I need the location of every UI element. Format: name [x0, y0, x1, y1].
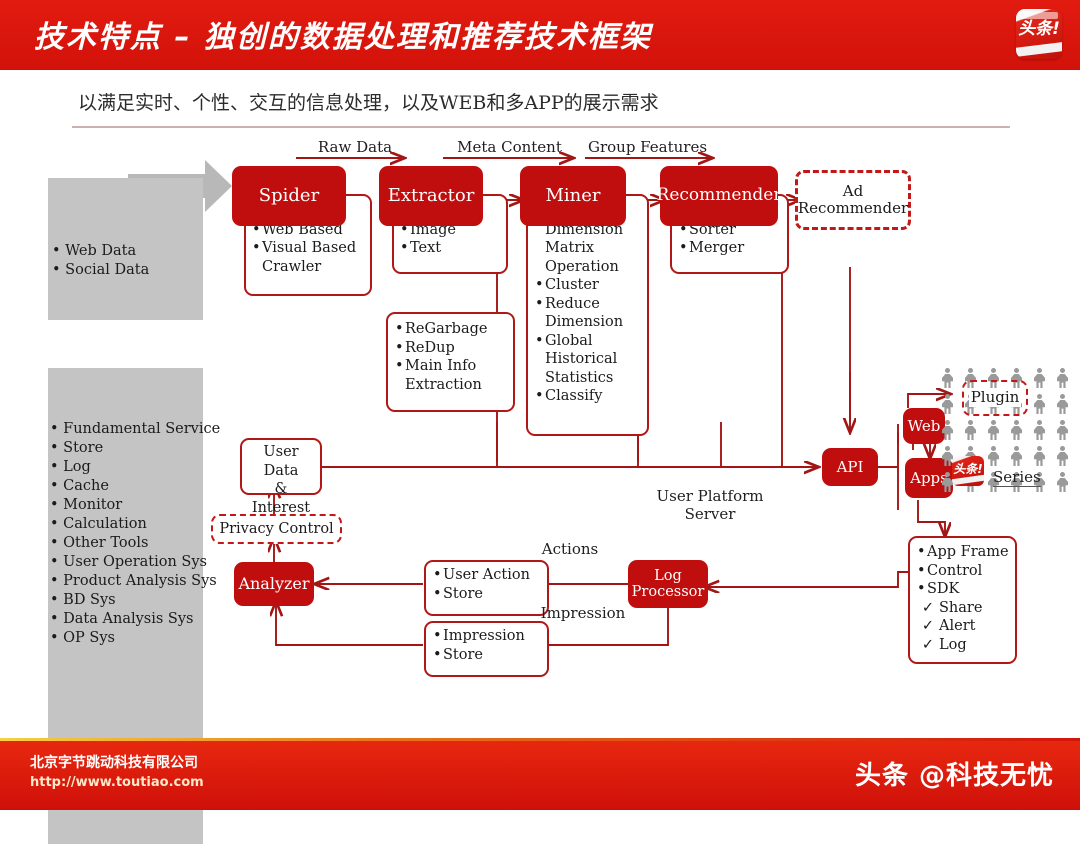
- series-app-icon: 头条!: [952, 456, 984, 486]
- spider-node[interactable]: Spider: [232, 166, 346, 226]
- web-label: Web: [908, 418, 941, 435]
- app-frame-node[interactable]: •App Frame •Control •SDK ✓Share ✓Alert ✓…: [908, 536, 1017, 664]
- miner-node[interactable]: Miner: [520, 166, 626, 226]
- list-item: • Other Tools: [50, 534, 220, 553]
- person-icon: [964, 420, 977, 440]
- flow-label-group-features: Group Features: [585, 138, 710, 156]
- flow-label-meta-content: Meta Content: [452, 138, 567, 156]
- web-node[interactable]: Web: [903, 408, 945, 444]
- person-icon: [941, 394, 954, 414]
- page-title: 技术特点 – 独创的数据处理和推荐技术框架: [34, 12, 652, 56]
- ad-recommender-line2: Recommender: [798, 200, 908, 217]
- toutiao-logo-icon: 头条!: [1016, 9, 1062, 59]
- list-item: Share: [939, 600, 982, 616]
- architecture-diagram: • Web Data • Social Data • Fundamental S…: [0, 132, 1080, 732]
- list-item: Main Info: [405, 358, 476, 374]
- extractor-detail-box-2: •ReGarbage •ReDup •Main Info Extraction: [386, 312, 515, 412]
- person-icon: [1056, 368, 1069, 388]
- api-node[interactable]: API: [822, 448, 878, 486]
- impression-store-node[interactable]: •Impression •Store: [424, 621, 549, 677]
- list-item: • Fundamental Service: [50, 420, 220, 439]
- footer-url[interactable]: http://www.toutiao.com: [30, 775, 204, 790]
- person-icon: [1056, 446, 1069, 466]
- flow-label-impression: Impression: [540, 604, 626, 622]
- list-item: Control: [927, 563, 982, 579]
- series-logo-text: 头条!: [952, 463, 984, 475]
- log-processor-node[interactable]: Log Processor: [628, 560, 708, 608]
- logo-text: 头条!: [1016, 21, 1062, 38]
- list-item: • User Operation Sys: [50, 553, 220, 572]
- analyzer-label: Analyzer: [238, 575, 309, 593]
- list-item: Dimension: [545, 314, 623, 330]
- person-icon: [987, 446, 1000, 466]
- user-data-db-line2: & Interest: [244, 480, 318, 517]
- list-item: Store: [443, 586, 483, 602]
- list-item: Matrix: [545, 240, 594, 256]
- list-item: • OP Sys: [50, 629, 220, 648]
- user-data-db-node[interactable]: User Data & Interest DB: [240, 438, 322, 495]
- privacy-control-label: Privacy Control: [219, 521, 333, 538]
- spider-title: Spider: [259, 186, 319, 206]
- flow-label-raw-data: Raw Data: [310, 138, 400, 156]
- list-item: ReGarbage: [405, 321, 487, 337]
- list-item: Crawler: [262, 259, 321, 275]
- privacy-control-node[interactable]: Privacy Control: [211, 514, 342, 544]
- list-item: App Frame: [927, 544, 1009, 560]
- list-item: • Store: [50, 439, 220, 458]
- list-item: Classify: [545, 388, 602, 404]
- list-item: Extraction: [405, 377, 482, 393]
- person-icon: [941, 368, 954, 388]
- recommender-title: Recommender: [657, 186, 782, 205]
- list-item: Merger: [689, 240, 744, 256]
- person-icon: [1056, 394, 1069, 414]
- flow-label-actions: Actions: [540, 540, 600, 558]
- person-icon: [1033, 446, 1046, 466]
- list-item: Historical: [545, 351, 617, 367]
- list-item: Impression: [443, 628, 525, 644]
- list-item: • Calculation: [50, 515, 220, 534]
- page-footer: 北京字节跳动科技有限公司 http://www.toutiao.com 头条 @…: [0, 738, 1080, 810]
- api-label: API: [837, 459, 864, 476]
- list-item: Log: [939, 637, 967, 653]
- person-icon: [1033, 420, 1046, 440]
- list-item: ReDup: [405, 340, 455, 356]
- extractor-title: Extractor: [388, 186, 475, 206]
- person-icon: [1010, 420, 1023, 440]
- log-processor-line1: Log: [632, 568, 705, 584]
- list-item: Operation: [545, 259, 619, 275]
- person-icon: [987, 420, 1000, 440]
- list-item: • Cache: [50, 477, 220, 496]
- list-item: • Social Data: [52, 261, 149, 280]
- user-action-store-node[interactable]: •User Action •Store: [424, 560, 549, 616]
- list-item: • Web Data: [52, 242, 149, 261]
- person-icon: [1056, 420, 1069, 440]
- footer-brand: 头条 @科技无忧: [855, 755, 1054, 792]
- person-icon: [1056, 472, 1069, 492]
- list-item: • Monitor: [50, 496, 220, 515]
- miner-detail-box: •High Dimension Matrix Operation •Cluste…: [526, 194, 649, 436]
- person-icon: [1010, 446, 1023, 466]
- list-item: Store: [443, 647, 483, 663]
- plugin-node[interactable]: Plugin: [962, 380, 1028, 416]
- page-header: 技术特点 – 独创的数据处理和推荐技术框架 头条!: [0, 0, 1080, 70]
- list-item: • Data Analysis Sys: [50, 610, 220, 629]
- subtitle-divider: [72, 126, 1010, 128]
- list-item: SDK: [927, 581, 959, 597]
- logo-top-band: [1020, 12, 1058, 19]
- user-platform-server-label: User Platform Server: [645, 487, 775, 523]
- list-item: Statistics: [545, 370, 613, 386]
- series-logo-band: [952, 474, 984, 485]
- person-icon: [1033, 368, 1046, 388]
- list-item: • Log: [50, 458, 220, 477]
- list-item: • BD Sys: [50, 591, 220, 610]
- list-item: Text: [410, 240, 441, 256]
- log-processor-line2: Processor: [632, 584, 705, 600]
- list-item: Alert: [939, 618, 975, 634]
- person-icon: [941, 420, 954, 440]
- user-data-db-line1: User Data: [244, 443, 318, 480]
- plugin-label: Plugin: [969, 389, 1022, 406]
- ups-line1: User Platform: [645, 487, 775, 505]
- platform-services-list: • Fundamental Service • Store • Log • Ca…: [50, 420, 220, 648]
- miner-title: Miner: [545, 186, 600, 206]
- list-item: Cluster: [545, 277, 599, 293]
- ad-recommender-line1: Ad: [798, 183, 908, 200]
- logo-bottom-band: [1016, 42, 1062, 58]
- footer-company: 北京字节跳动科技有限公司: [30, 752, 198, 772]
- recommender-node[interactable]: Recommender: [660, 166, 778, 226]
- analyzer-node[interactable]: Analyzer: [234, 562, 314, 606]
- list-item: Reduce: [545, 296, 600, 312]
- subtitle: 以满足实时、个性、交互的信息处理，以及WEB和多APP的展示需求: [78, 88, 659, 115]
- list-item: Visual Based: [262, 240, 356, 256]
- extractor-node[interactable]: Extractor: [379, 166, 483, 226]
- ups-line2: Server: [645, 505, 775, 523]
- data-sources-list: • Web Data • Social Data: [52, 242, 149, 280]
- list-item: Global: [545, 333, 593, 349]
- ad-recommender-node[interactable]: Ad Recommender: [795, 170, 911, 230]
- list-item: User Action: [443, 567, 530, 583]
- person-icon: [1033, 394, 1046, 414]
- series-label: Series: [993, 468, 1041, 487]
- footer-divider: [0, 738, 1080, 741]
- list-item: • Product Analysis Sys: [50, 572, 220, 591]
